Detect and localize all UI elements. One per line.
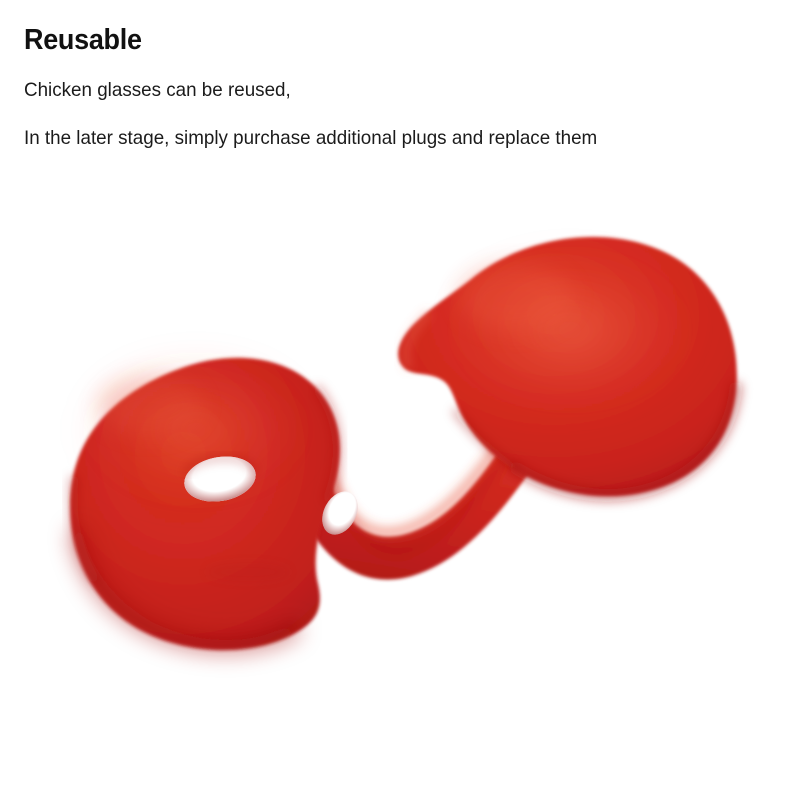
- page-title: Reusable: [24, 24, 723, 57]
- right-lobe: [398, 237, 737, 497]
- description-line-2: In the later stage, simply purchase addi…: [24, 127, 750, 150]
- product-image: [0, 180, 800, 800]
- left-lobe: [70, 358, 340, 650]
- text-block: Reusable Chicken glasses can be reused, …: [24, 24, 776, 150]
- product-detail-page: Reusable Chicken glasses can be reused, …: [0, 0, 800, 800]
- chicken-glasses-illustration: [0, 180, 800, 800]
- description-line-1: Chicken glasses can be reused,: [24, 79, 750, 102]
